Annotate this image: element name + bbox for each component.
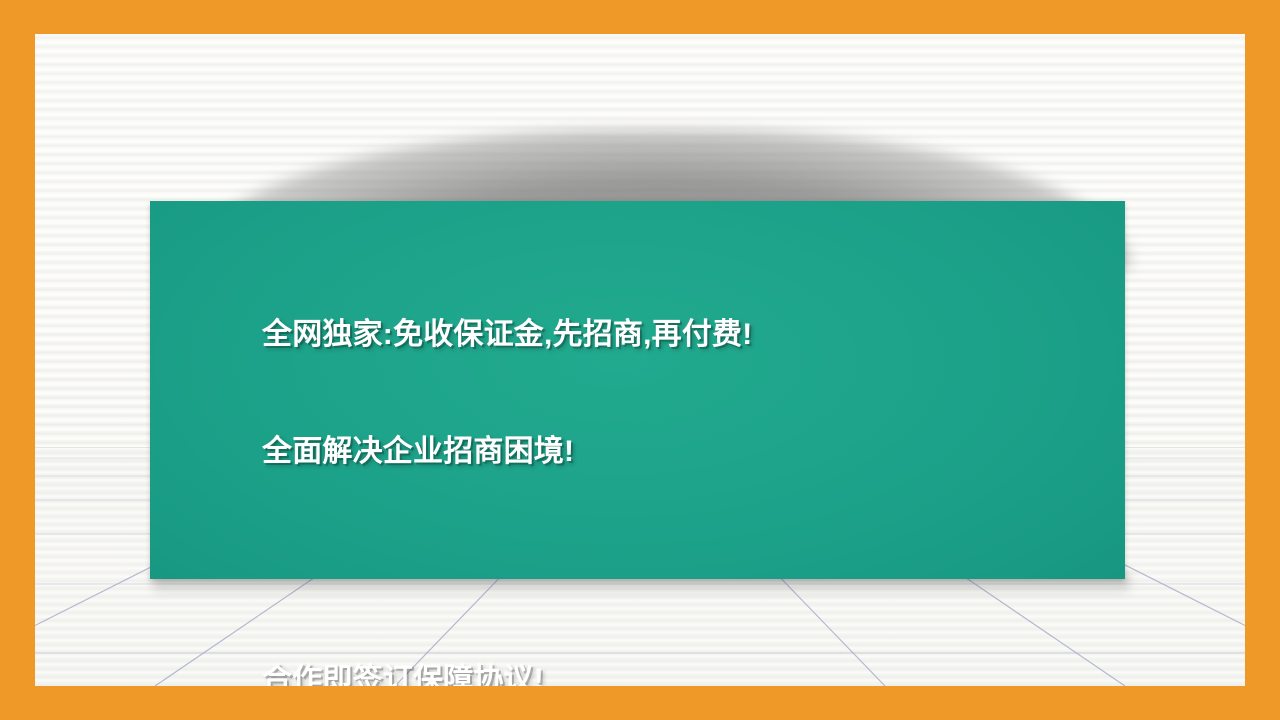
panel-line-2: 全面解决企业招商困境! [262, 432, 1119, 471]
panel-text-block: 全网独家:免收保证金,先招商,再付费! 全面解决企业招商困境! 合作即签订保障协… [262, 237, 1119, 686]
panel-line-3-spacer [262, 549, 1119, 582]
panel-line-4: 合作即签订保障协议! [262, 660, 1119, 686]
slide-canvas: 全网独家:免收保证金,先招商,再付费! 全面解决企业招商困境! 合作即签订保障协… [0, 0, 1280, 720]
room-background: 全网独家:免收保证金,先招商,再付费! 全面解决企业招商困境! 合作即签订保障协… [35, 34, 1245, 686]
panel-line-1: 全网独家:免收保证金,先招商,再付费! [262, 315, 1119, 354]
green-message-panel: 全网独家:免收保证金,先招商,再付费! 全面解决企业招商困境! 合作即签订保障协… [150, 201, 1125, 579]
